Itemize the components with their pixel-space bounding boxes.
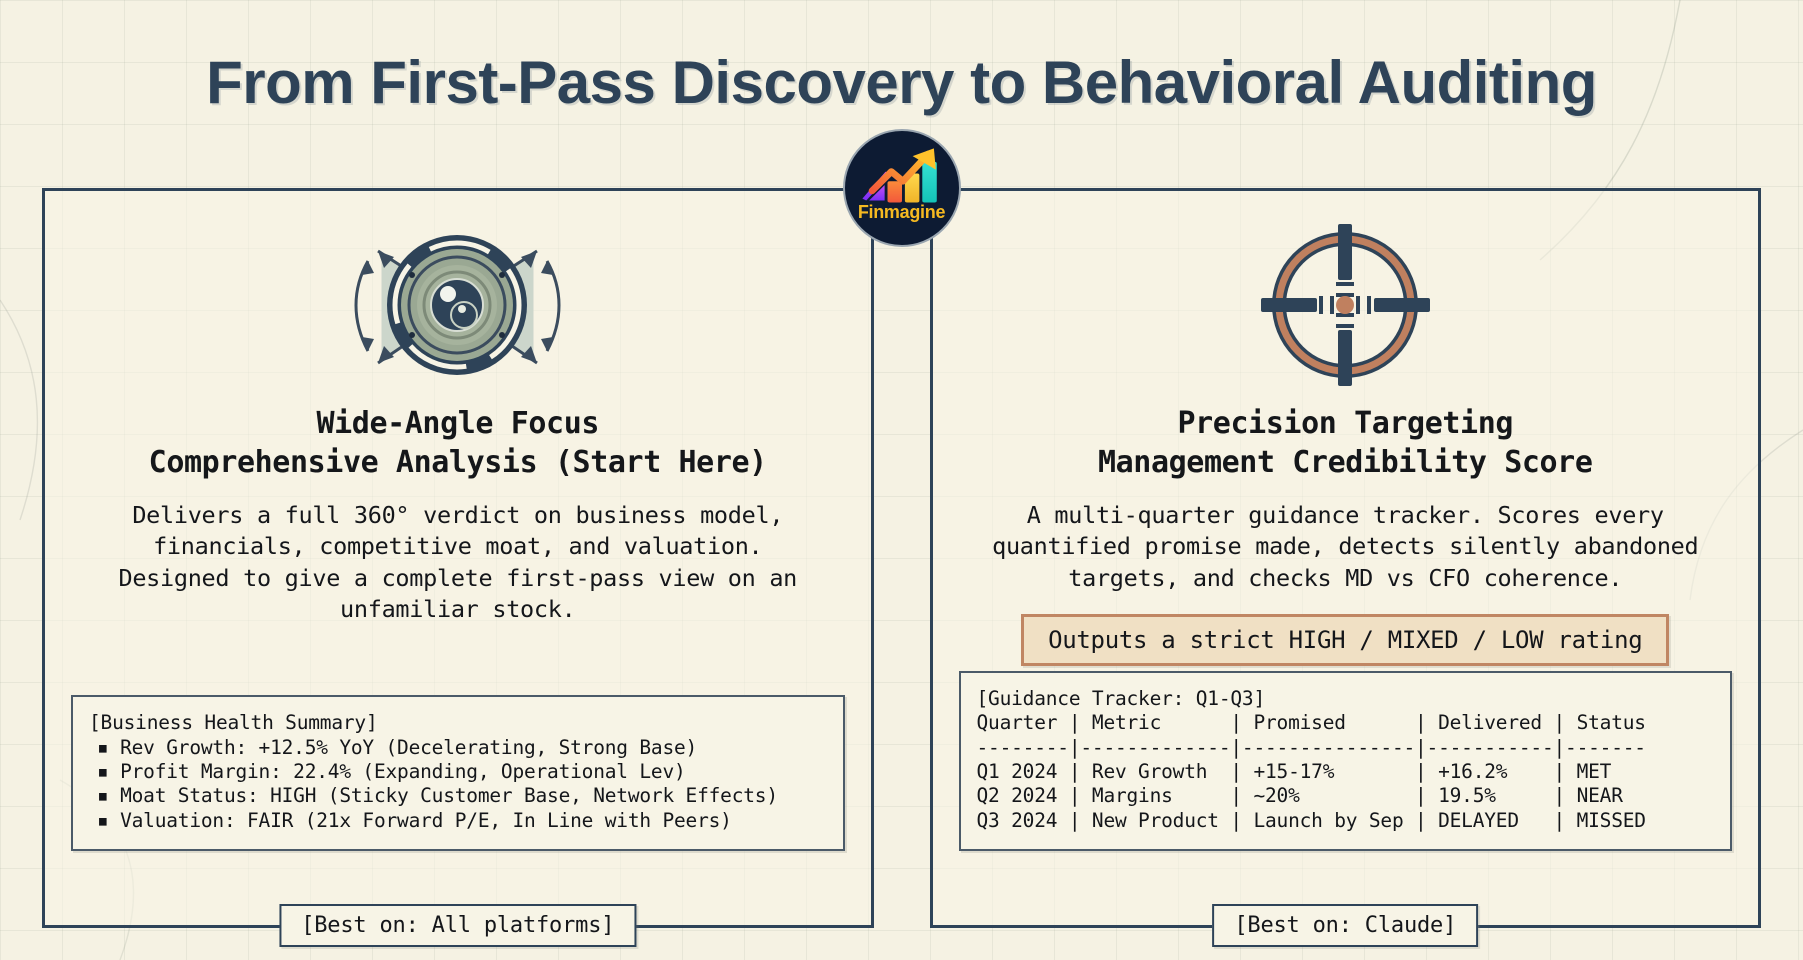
code-box-title: [Business Health Summary] xyxy=(89,711,827,735)
left-panel-desc-line: unfamiliar stock. xyxy=(118,594,797,625)
left-panel-heading-line1: Wide-Angle Focus xyxy=(149,404,767,443)
left-panel-footer-badge: [Best on: All platforms] xyxy=(279,904,636,947)
table-row: Q1 2024 | Rev Growth | +15-17% | +16.2% … xyxy=(977,760,1715,784)
left-panel-desc-line: Designed to give a complete first-pass v… xyxy=(118,563,797,594)
rating-output-highlight: Outputs a strict HIGH / MIXED / LOW rati… xyxy=(1021,614,1669,666)
left-panel-heading-line2: Comprehensive Analysis (Start Here) xyxy=(149,443,767,482)
right-panel-heading: Precision Targeting Management Credibili… xyxy=(1098,404,1593,482)
right-panel-heading-line2: Management Credibility Score xyxy=(1098,443,1593,482)
left-panel-desc-line: Delivers a full 360° verdict on business… xyxy=(118,500,797,531)
guidance-tracker-box: [Guidance Tracker: Q1-Q3] Quarter | Metr… xyxy=(959,671,1733,851)
table-divider-row: --------|-------------|---------------|-… xyxy=(977,736,1715,760)
list-item: ▪ Moat Status: HIGH (Sticky Customer Bas… xyxy=(89,784,827,808)
code-box-title: [Guidance Tracker: Q1-Q3] xyxy=(977,687,1715,711)
list-item: ▪ Profit Margin: 22.4% (Expanding, Opera… xyxy=(89,760,827,784)
panels-container: Wide-Angle Focus Comprehensive Analysis … xyxy=(42,188,1761,928)
right-panel-desc-line: quantified promise made, detects silentl… xyxy=(992,531,1698,562)
right-panel-desc-line: targets, and checks MD vs CFO coherence. xyxy=(992,563,1698,594)
panel-wide-angle-focus[interactable]: Wide-Angle Focus Comprehensive Analysis … xyxy=(42,188,874,928)
list-item: ▪ Rev Growth: +12.5% YoY (Decelerating, … xyxy=(89,736,827,760)
finmagine-logo[interactable]: Finmagine xyxy=(843,129,961,247)
logo-text: Finmagine xyxy=(845,202,959,223)
page-title: From First-Pass Discovery to Behavioral … xyxy=(0,48,1803,117)
list-item: ▪ Valuation: FAIR (21x Forward P/E, In L… xyxy=(89,809,827,833)
crosshair-target-icon xyxy=(1253,217,1438,392)
right-panel-footer-badge: [Best on: Claude] xyxy=(1212,904,1478,947)
logo-chart-icon xyxy=(845,129,959,247)
left-panel-description: Delivers a full 360° verdict on business… xyxy=(118,500,797,625)
table-header-row: Quarter | Metric | Promised | Delivered … xyxy=(977,711,1715,735)
business-health-summary-box: [Business Health Summary] ▪ Rev Growth: … xyxy=(71,695,845,851)
camera-lens-wide-angle-icon xyxy=(320,217,595,392)
left-panel-heading: Wide-Angle Focus Comprehensive Analysis … xyxy=(149,404,767,482)
right-panel-desc-line: A multi-quarter guidance tracker. Scores… xyxy=(992,500,1698,531)
right-panel-description: A multi-quarter guidance tracker. Scores… xyxy=(992,500,1698,594)
right-panel-heading-line1: Precision Targeting xyxy=(1098,404,1593,443)
left-panel-desc-line: financials, competitive moat, and valuat… xyxy=(118,531,797,562)
panel-precision-targeting[interactable]: Precision Targeting Management Credibili… xyxy=(930,188,1762,928)
table-row: Q3 2024 | New Product | Launch by Sep | … xyxy=(977,809,1715,833)
table-row: Q2 2024 | Margins | ~20% | 19.5% | NEAR xyxy=(977,784,1715,808)
